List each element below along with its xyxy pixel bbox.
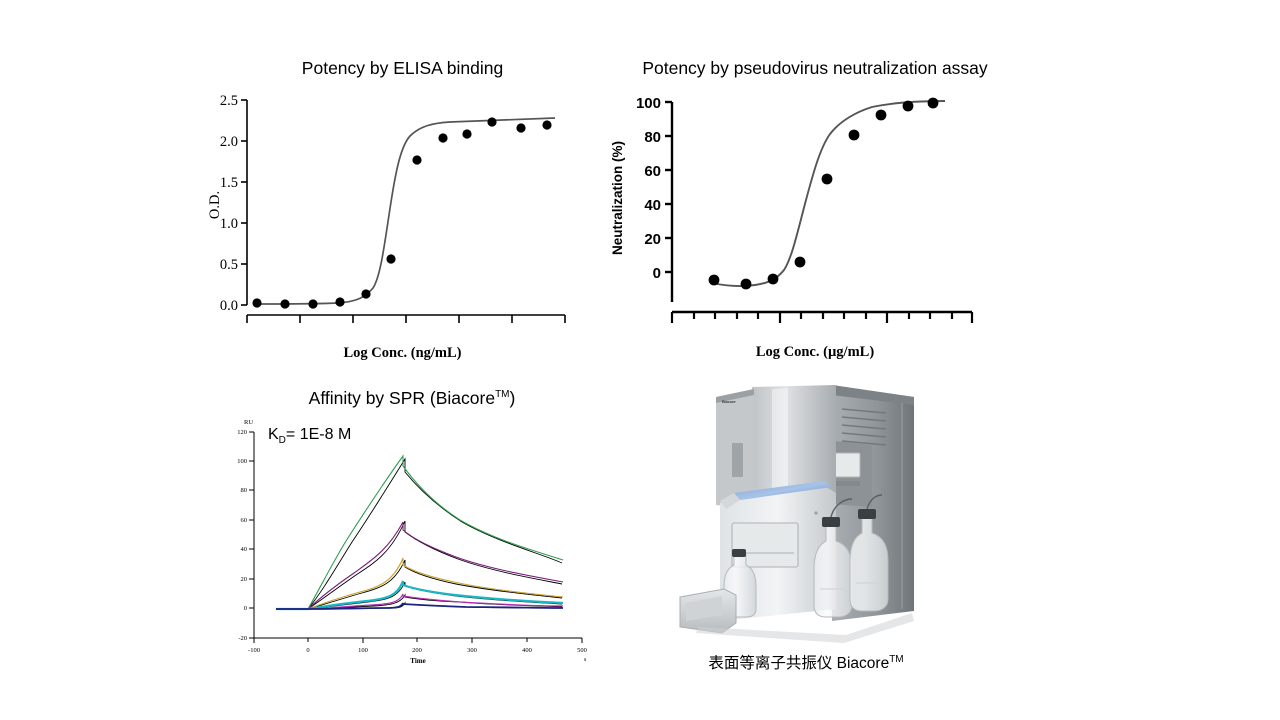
elisa-x-axis-unit: (ng/mL) bbox=[411, 345, 462, 361]
svg-text:-20: -20 bbox=[238, 635, 247, 642]
svg-text:500: 500 bbox=[577, 647, 587, 654]
elisa-point bbox=[386, 254, 395, 263]
neutralization-point bbox=[903, 101, 914, 112]
elisa-chart-title: Potency by ELISA binding bbox=[205, 58, 600, 79]
spr-sensorgram-svg: -20 0 20 40 60 80 100 120 -100 0 100 200… bbox=[222, 414, 602, 664]
elisa-y-ticks bbox=[241, 100, 247, 305]
spr-y-ticklabels: -20 0 20 40 60 80 100 120 bbox=[237, 429, 247, 642]
elisa-fit-curve bbox=[257, 118, 555, 304]
neutralization-point bbox=[768, 274, 779, 285]
svg-text:Biacore: Biacore bbox=[722, 399, 736, 404]
svg-text:0: 0 bbox=[244, 605, 247, 612]
svg-text:0.0: 0.0 bbox=[220, 298, 238, 314]
neutralization-point bbox=[849, 130, 860, 141]
neutralization-x-axis-label-text: Log Conc. bbox=[756, 344, 823, 360]
svg-text:2.0: 2.0 bbox=[220, 134, 238, 150]
spr-x-axis-unit: s bbox=[584, 657, 587, 663]
spr-kd-value: = 1E-8 M bbox=[286, 426, 351, 443]
svg-text:1.5: 1.5 bbox=[220, 175, 238, 191]
biacore-instrument-image: Biacore bbox=[676, 383, 932, 645]
bottle-cap bbox=[822, 517, 840, 527]
svg-text:100: 100 bbox=[237, 458, 247, 465]
svg-text:80: 80 bbox=[644, 129, 661, 146]
elisa-x-axis-label-text: Log Conc. bbox=[343, 345, 410, 361]
neutralization-x-axis-unit: (µg/mL) bbox=[823, 344, 874, 360]
svg-text:300: 300 bbox=[467, 647, 477, 654]
svg-text:80: 80 bbox=[241, 487, 248, 494]
svg-text:0.5: 0.5 bbox=[220, 257, 238, 273]
svg-text:0: 0 bbox=[653, 265, 661, 282]
elisa-y-axis-label: O.D. bbox=[207, 191, 223, 219]
neutralization-panel: Potency by pseudovirus neutralization as… bbox=[600, 58, 1030, 363]
neutralization-point bbox=[928, 98, 939, 109]
neutralization-chart-title: Potency by pseudovirus neutralization as… bbox=[600, 58, 1030, 79]
elisa-point bbox=[252, 298, 261, 307]
svg-text:20: 20 bbox=[241, 576, 248, 583]
instrument-caption-trademark: TM bbox=[889, 654, 903, 665]
spr-title-main: Affinity by SPR (Biacore bbox=[309, 388, 495, 408]
instrument-side-vent bbox=[732, 443, 743, 477]
spr-trace-conc-1 bbox=[276, 456, 563, 609]
svg-text:120: 120 bbox=[237, 429, 247, 436]
spr-x-axis-label: Time bbox=[410, 657, 425, 664]
spr-y-axis-label: RU bbox=[244, 419, 253, 426]
elisa-x-ticks bbox=[247, 315, 565, 323]
neutralization-x-axis-label: Log Conc. (µg/mL) bbox=[600, 344, 1030, 361]
svg-text:60: 60 bbox=[644, 163, 661, 180]
spr-panel: Affinity by SPR (BiacoreTM) -20 0 20 40 … bbox=[222, 388, 602, 673]
spr-kd-subscript: D bbox=[279, 435, 286, 446]
instrument-caption: 表面等离子共振仪 BiacoreTM bbox=[636, 651, 976, 673]
svg-text:40: 40 bbox=[241, 546, 248, 553]
neutralization-data-points bbox=[709, 98, 939, 290]
elisa-point bbox=[308, 299, 317, 308]
spr-title-trademark: TM bbox=[495, 389, 509, 400]
svg-text:100: 100 bbox=[358, 647, 368, 654]
svg-text:60: 60 bbox=[241, 517, 248, 524]
neutralization-point bbox=[795, 257, 806, 268]
neutralization-y-axis-label: Neutralization (%) bbox=[610, 141, 625, 255]
instrument-waste-tray bbox=[680, 549, 756, 633]
svg-text:40: 40 bbox=[644, 197, 661, 214]
elisa-point bbox=[335, 297, 344, 306]
svg-text:200: 200 bbox=[412, 647, 422, 654]
svg-text:2.5: 2.5 bbox=[220, 93, 238, 109]
elisa-point bbox=[542, 120, 551, 129]
elisa-point bbox=[487, 117, 496, 126]
neutralization-fit-curve bbox=[712, 101, 945, 286]
spr-y-ticks bbox=[249, 432, 254, 638]
spr-x-ticklabels: -100 0 100 200 300 400 500 bbox=[248, 647, 587, 654]
svg-text:-100: -100 bbox=[248, 647, 260, 654]
elisa-point bbox=[516, 123, 525, 132]
spr-x-ticks bbox=[254, 638, 582, 643]
svg-text:400: 400 bbox=[522, 647, 532, 654]
elisa-point bbox=[361, 289, 370, 298]
spr-kd-annotation: KD= 1E-8 M bbox=[268, 426, 351, 446]
elisa-point bbox=[280, 299, 289, 308]
elisa-point bbox=[462, 129, 471, 138]
instrument-photo-panel: Biacore bbox=[676, 383, 932, 683]
instrument-caption-text: 表面等离子共振仪 Biacore bbox=[708, 655, 889, 672]
neutralization-x-ticks bbox=[672, 312, 972, 323]
bottle-cap bbox=[732, 549, 746, 557]
elisa-point bbox=[412, 155, 421, 164]
elisa-data-points bbox=[252, 117, 551, 308]
neutralization-point bbox=[876, 110, 887, 121]
elisa-point bbox=[438, 133, 447, 142]
neutralization-chart-svg: 0 20 40 60 80 100 Neutralization ( bbox=[600, 90, 1030, 365]
spr-trace-conc-2 bbox=[276, 522, 563, 609]
svg-text:20: 20 bbox=[644, 231, 661, 248]
spr-title-end: ) bbox=[510, 388, 516, 408]
bottle-cap bbox=[858, 509, 876, 519]
elisa-chart-svg: 0.0 0.5 1.0 1.5 2.0 2.5 O.D. bbox=[205, 90, 600, 365]
neutralization-point bbox=[709, 275, 720, 286]
spr-fit-curves bbox=[276, 459, 562, 609]
spr-kd-k: K bbox=[268, 426, 279, 443]
elisa-panel: Potency by ELISA binding 0.0 0.5 1.0 1.5… bbox=[205, 58, 600, 363]
neutralization-point bbox=[741, 279, 752, 290]
elisa-x-axis-label: Log Conc. (ng/mL) bbox=[205, 345, 600, 362]
neutralization-point bbox=[822, 174, 833, 185]
svg-text:0: 0 bbox=[306, 647, 309, 654]
svg-text:100: 100 bbox=[636, 95, 661, 112]
spr-chart-title: Affinity by SPR (BiacoreTM) bbox=[222, 388, 602, 409]
neutralization-y-ticklabels: 0 20 40 60 80 100 bbox=[636, 95, 661, 282]
